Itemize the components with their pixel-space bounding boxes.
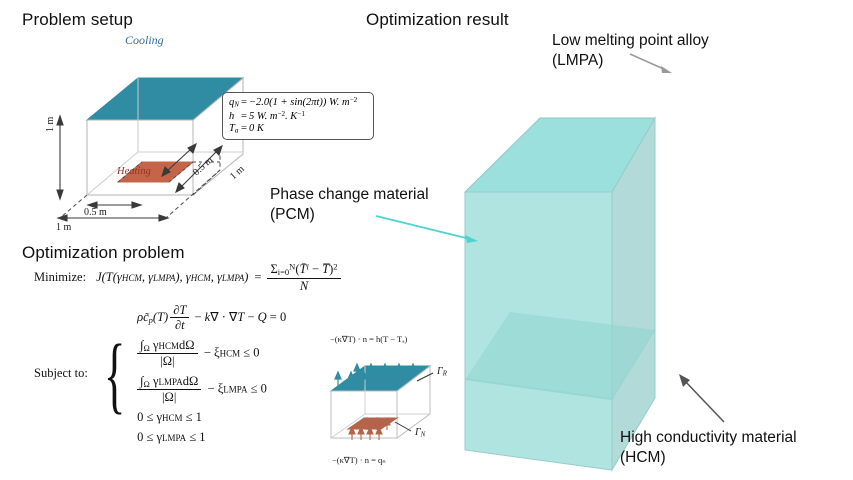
optimization-formula: Minimize: J(T(γHCM, γLMPA), γHCM, γLMPA)… [34, 262, 341, 445]
objective-row: Minimize: J(T(γHCM, γLMPA), γHCM, γLMPA)… [34, 262, 341, 293]
cooling-label: Cooling [125, 33, 164, 48]
constraint-1: ρc̃p(T) ∂T∂t − k∇ · ∇T − Q = 0 [137, 303, 286, 333]
bc-row-ta: Ta= 0 K [229, 123, 359, 136]
annotation-lmpa-line1: Low melting point alloy [552, 31, 709, 51]
constraints-row: Subject to: { ρc̃p(T) ∂T∂t − k∇ · ∇T − Q… [34, 303, 341, 445]
annotation-hcm-line2: (HCM) [620, 448, 797, 468]
constraint-3: ∫Ω γLMPAdΩ |Ω| − ξLMPA ≤ 0 [137, 374, 286, 405]
result-3d-box [440, 80, 700, 470]
constraint-4: 0 ≤ γHCM ≤ 1 [137, 410, 286, 425]
pcm-arrow-icon [374, 212, 484, 252]
robin-bc-label: −(κ∇T) · n = h(T − Tₐ) [330, 334, 407, 345]
dim-heat-width-label: 0.5 m [84, 207, 107, 218]
gamma-n-label: ΓN [415, 427, 425, 438]
lmpa-arrow-icon [628, 50, 678, 80]
hcm-arrow-icon [674, 372, 734, 427]
minimize-label: Minimize: [34, 270, 86, 285]
heating-label: Heating [117, 166, 151, 177]
page-title-optimization-problem: Optimization problem [22, 243, 185, 263]
objective-denominator: N [267, 279, 340, 293]
objective-fraction: Σi=0N(T̄i − T̅̅)2 N [267, 262, 340, 293]
bc-row-qn: qN= −2.0(1 + sin(2πt)) W. m−2 [229, 96, 359, 110]
annotation-pcm-line1: Phase change material [270, 185, 429, 205]
dimension-width-arrow [58, 215, 168, 221]
dim-width-label: 1 m [56, 222, 71, 233]
page-title-problem-setup: Problem setup [22, 10, 133, 30]
page-title-optimization-result: Optimization result [366, 10, 509, 30]
dim-height-label: 1 m [45, 117, 56, 132]
bc-row-h: h= 5 W. m−2. K−1 [229, 110, 359, 123]
objective-lhs: J(T(γHCM, γLMPA), γHCM, γLMPA) [96, 270, 248, 285]
subject-to-label: Subject to: [34, 366, 88, 381]
annotation-hcm: High conductivity material (HCM) [620, 428, 797, 468]
dimension-height-arrow [57, 116, 63, 199]
constraints-list: ρc̃p(T) ∂T∂t − k∇ · ∇T − Q = 0 ∫Ω γHCMdΩ… [137, 303, 286, 445]
objective-numerator: Σi=0N(T̄i − T̅̅)2 [267, 262, 340, 279]
annotation-hcm-line1: High conductivity material [620, 428, 797, 448]
boundary-condition-diagram [305, 336, 460, 466]
box-front-face [87, 120, 193, 195]
constraint-5: 0 ≤ γLMPA ≤ 1 [137, 430, 286, 445]
neumann-bc-label: −(κ∇T) · n = qₙ [332, 455, 386, 466]
boundary-condition-box: qN= −2.0(1 + sin(2πt)) W. m−2 h= 5 W. m−… [222, 92, 374, 140]
objective-equals: = [254, 270, 261, 285]
constraint-2: ∫Ω γHCMdΩ |Ω| − ξHCM ≤ 0 [137, 338, 286, 369]
